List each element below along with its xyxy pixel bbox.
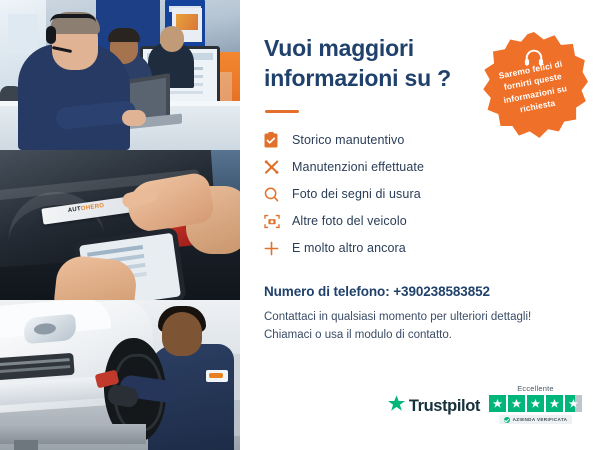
phone-line: Numero di telefono: +390238583852 xyxy=(264,284,576,299)
tools-cross-icon xyxy=(264,159,292,175)
contact-subtext: Contattaci in qualsiasi momento per ulte… xyxy=(264,308,576,345)
trustpilot-widget[interactable]: Trustpilot Eccellente xyxy=(388,384,582,424)
subtext-line-1: Contattaci in qualsiasi momento per ulte… xyxy=(264,308,576,327)
plus-icon xyxy=(264,241,292,256)
promo-banner: AUTOHERO xyxy=(0,0,600,450)
phone-number[interactable]: +390238583852 xyxy=(393,284,490,299)
feature-label: Storico manutentivo xyxy=(292,133,404,147)
check-circle-icon xyxy=(504,417,510,423)
feature-label: Altre foto del veicolo xyxy=(292,214,407,228)
subtext-line-2: Chiamaci o usa il modulo di contatto. xyxy=(264,326,576,345)
rating-label: Eccellente xyxy=(517,384,554,393)
feature-list: Storico manutentivo Manutenzioni effettu… xyxy=(264,127,576,262)
photo-wheel-inspection xyxy=(0,300,240,450)
feature-item-manutenzioni: Manutenzioni effettuate xyxy=(264,154,576,181)
star-icon xyxy=(527,395,544,412)
verified-badge: AZIENDA VERIFICATA xyxy=(499,415,573,424)
page-title: Vuoi maggiori informazioni su ? xyxy=(264,34,474,94)
photo-call-center xyxy=(0,0,240,150)
feature-label: Manutenzioni effettuate xyxy=(292,160,424,174)
trustpilot-star-icon xyxy=(388,395,405,417)
clipboard-check-icon xyxy=(264,132,292,148)
trustpilot-name: Trustpilot xyxy=(409,397,480,416)
photo-column: AUTOHERO xyxy=(0,0,240,450)
star-icon xyxy=(546,395,563,412)
star-half-icon xyxy=(565,395,582,412)
content-panel: Vuoi maggiori informazioni su ? Saremo f… xyxy=(240,0,600,450)
magnifier-icon xyxy=(264,187,292,202)
trustpilot-rating: Eccellente xyxy=(489,384,582,424)
feature-label: Foto dei segni di usura xyxy=(292,187,421,201)
feature-item-altre-foto: Altre foto del veicolo xyxy=(264,208,576,235)
trustpilot-logo: Trustpilot xyxy=(388,395,480,424)
photo-frame-icon xyxy=(264,214,292,229)
star-icon xyxy=(508,395,525,412)
title-divider xyxy=(265,110,299,113)
phone-label: Numero di telefono: xyxy=(264,284,393,299)
feature-item-molto-altro: E molto altro ancora xyxy=(264,235,576,262)
feature-item-foto-usura: Foto dei segni di usura xyxy=(264,181,576,208)
feature-label: E molto altro ancora xyxy=(292,241,406,255)
star-icon xyxy=(489,395,506,412)
callout-badge: Saremo felici di fornirti queste informa… xyxy=(480,32,588,140)
verified-label: AZIENDA VERIFICATA xyxy=(513,417,568,422)
photo-bumper-inspection: AUTOHERO xyxy=(0,150,240,300)
star-rating xyxy=(489,395,582,412)
